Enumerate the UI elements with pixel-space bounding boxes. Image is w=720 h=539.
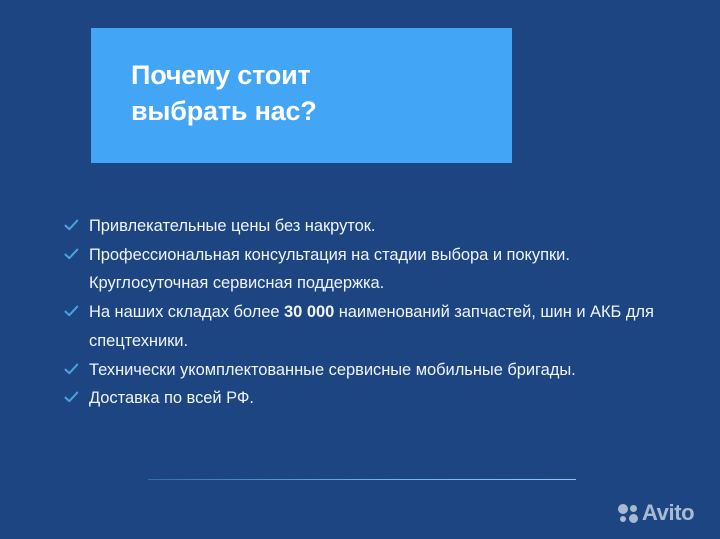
list-item: Доставка по всей РФ. [64, 384, 664, 413]
list-item-text: Привлекательные цены без накруток. [89, 212, 664, 241]
check-icon [64, 247, 79, 262]
list-item: Привлекательные цены без накруток. [64, 212, 664, 241]
page-title: Почему стоит выбрать нас? [131, 57, 491, 129]
check-icon [64, 390, 79, 405]
avito-dots-logo-icon [618, 503, 639, 524]
avito-watermark: Avito [618, 499, 694, 527]
list-item: Профессиональная консультация на стадии … [64, 241, 664, 298]
slide-canvas: Почему стоит выбрать нас? Привлекательны… [0, 0, 720, 539]
divider [148, 479, 576, 480]
list-item-text: Технически укомплектованные сервисные мо… [89, 356, 664, 385]
list-item-text: На наших складах более 30 000 наименован… [89, 298, 664, 355]
list-item-text: Профессиональная консультация на стадии … [89, 241, 664, 298]
list-item: Технически укомплектованные сервисные мо… [64, 356, 664, 385]
check-icon [64, 218, 79, 233]
title-banner: Почему стоит выбрать нас? [91, 28, 512, 163]
avito-wordmark: Avito [642, 502, 694, 524]
check-icon [64, 362, 79, 377]
check-icon [64, 304, 79, 319]
list-item-text: Доставка по всей РФ. [89, 384, 664, 413]
benefits-list: Привлекательные цены без накруток. Профе… [64, 212, 664, 413]
list-item: На наших складах более 30 000 наименован… [64, 298, 664, 355]
